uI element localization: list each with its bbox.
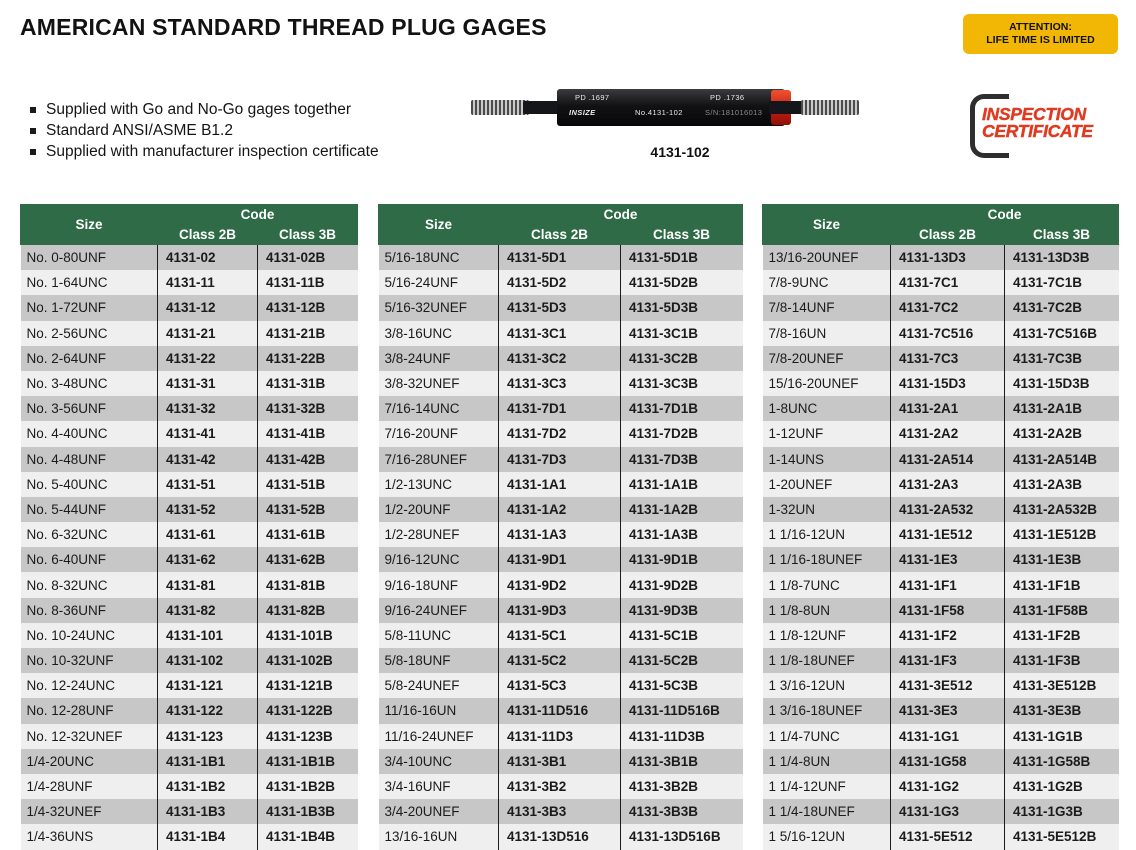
header-class-2b: Class 2B	[891, 225, 1005, 245]
cell-class-2b: 4131-1B3	[158, 799, 258, 824]
cell-size: 7/8-9UNC	[763, 270, 891, 295]
table-row: 1-8UNC4131-2A14131-2A1B	[763, 396, 1119, 421]
gage-pd-go-label: PD .1697	[575, 93, 609, 102]
table-row: 1 1/4-8UN4131-1G584131-1G58B	[763, 749, 1119, 774]
table-row: 3/4-16UNF4131-3B24131-3B2B	[379, 774, 743, 799]
cell-size: 1 3/16-12UN	[763, 673, 891, 698]
table-row: No. 12-24UNC4131-1214131-121B	[21, 673, 358, 698]
cell-class-3b: 4131-61B	[258, 522, 358, 547]
cell-class-2b: 4131-2A532	[891, 497, 1005, 522]
cell-size: No. 10-24UNC	[21, 623, 158, 648]
table-row: No. 6-32UNC4131-614131-61B	[21, 522, 358, 547]
cell-size: 1 1/8-8UN	[763, 598, 891, 623]
cell-class-2b: 4131-1A1	[499, 472, 621, 497]
table-row: No. 5-44UNF4131-524131-52B	[21, 497, 358, 522]
cell-size: 1/4-28UNF	[21, 774, 158, 799]
cell-size: No. 6-40UNF	[21, 547, 158, 572]
table-row: 1 1/8-12UNF4131-1F24131-1F2B	[763, 623, 1119, 648]
header-size: Size	[379, 205, 499, 245]
cell-size: 1-14UNS	[763, 447, 891, 472]
cell-class-3b: 4131-1B2B	[258, 774, 358, 799]
cell-class-2b: 4131-9D3	[499, 598, 621, 623]
cell-class-3b: 4131-1E3B	[1005, 547, 1119, 572]
table-row: 3/4-10UNC4131-3B14131-3B1B	[379, 749, 743, 774]
cell-class-2b: 4131-1A2	[499, 497, 621, 522]
cell-class-2b: 4131-1E512	[891, 522, 1005, 547]
cell-size: No. 1-72UNF	[21, 295, 158, 320]
table-row: No. 2-64UNF4131-224131-22B	[21, 346, 358, 371]
cell-size: 1 1/4-7UNC	[763, 724, 891, 749]
cell-size: 1 1/16-18UNEF	[763, 547, 891, 572]
cell-class-2b: 4131-62	[158, 547, 258, 572]
cell-class-3b: 4131-32B	[258, 396, 358, 421]
table-row: 1-12UNF4131-2A24131-2A2B	[763, 421, 1119, 446]
cell-class-2b: 4131-3C2	[499, 346, 621, 371]
cell-class-2b: 4131-52	[158, 497, 258, 522]
cell-size: 1/4-20UNC	[21, 749, 158, 774]
attention-badge: ATTENTION: LIFE TIME IS LIMITED	[963, 14, 1118, 54]
cell-class-2b: 4131-1B1	[158, 749, 258, 774]
gage-model-label: No.4131-102	[635, 108, 683, 117]
cell-size: 1-32UN	[763, 497, 891, 522]
table-row: No. 12-32UNEF4131-1234131-123B	[21, 724, 358, 749]
cell-class-2b: 4131-21	[158, 321, 258, 346]
gage-pd-nogo-label: PD .1736	[710, 93, 744, 102]
cell-class-3b: 4131-1F2B	[1005, 623, 1119, 648]
table-row: No. 1-72UNF4131-124131-12B	[21, 295, 358, 320]
cell-class-2b: 4131-7D3	[499, 447, 621, 472]
table-row: 1 1/16-18UNEF4131-1E34131-1E3B	[763, 547, 1119, 572]
cell-class-2b: 4131-22	[158, 346, 258, 371]
cell-class-2b: 4131-11	[158, 270, 258, 295]
cell-class-3b: 4131-121B	[258, 673, 358, 698]
cell-class-3b: 4131-51B	[258, 472, 358, 497]
cell-size: 7/16-28UNEF	[379, 447, 499, 472]
cell-size: 1/4-32UNEF	[21, 799, 158, 824]
cell-class-3b: 4131-3C2B	[621, 346, 743, 371]
cell-size: 3/8-32UNEF	[379, 371, 499, 396]
cell-size: 3/8-24UNF	[379, 346, 499, 371]
table-row: 7/16-14UNC4131-7D14131-7D1B	[379, 396, 743, 421]
cell-class-3b: 4131-15D3B	[1005, 371, 1119, 396]
cell-size: 1 1/4-8UN	[763, 749, 891, 774]
cell-class-3b: 4131-3B1B	[621, 749, 743, 774]
cell-class-2b: 4131-2A1	[891, 396, 1005, 421]
cell-class-2b: 4131-2A2	[891, 421, 1005, 446]
table-row: 1 3/16-18UNEF4131-3E34131-3E3B	[763, 698, 1119, 723]
product-caption: 4131-102	[465, 144, 895, 160]
table-row: No. 6-40UNF4131-624131-62B	[21, 547, 358, 572]
cell-class-3b: 4131-62B	[258, 547, 358, 572]
cell-class-2b: 4131-1G2	[891, 774, 1005, 799]
table-row: No. 8-36UNF4131-824131-82B	[21, 598, 358, 623]
table-row: 11/16-16UN4131-11D5164131-11D516B	[379, 698, 743, 723]
cell-size: 7/16-14UNC	[379, 396, 499, 421]
cell-class-3b: 4131-1G58B	[1005, 749, 1119, 774]
table-row: 9/16-12UNC4131-9D14131-9D1B	[379, 547, 743, 572]
cell-class-2b: 4131-7D2	[499, 421, 621, 446]
cell-size: 7/16-20UNF	[379, 421, 499, 446]
cell-class-2b: 4131-123	[158, 724, 258, 749]
table-row: No. 0-80UNF4131-024131-02B	[21, 245, 358, 271]
cell-class-2b: 4131-1F2	[891, 623, 1005, 648]
cell-size: No. 5-44UNF	[21, 497, 158, 522]
cell-size: 3/8-16UNC	[379, 321, 499, 346]
table-row: No. 8-32UNC4131-814131-81B	[21, 572, 358, 597]
cell-class-3b: 4131-81B	[258, 572, 358, 597]
cell-size: 1-20UNEF	[763, 472, 891, 497]
cell-class-3b: 4131-1A1B	[621, 472, 743, 497]
cell-size: 1-8UNC	[763, 396, 891, 421]
cell-class-2b: 4131-82	[158, 598, 258, 623]
table-row: No. 4-40UNC4131-414131-41B	[21, 421, 358, 446]
cell-class-2b: 4131-11D516	[499, 698, 621, 723]
header-class-2b: Class 2B	[158, 225, 258, 245]
cell-size: 7/8-20UNEF	[763, 346, 891, 371]
cell-class-2b: 4131-41	[158, 421, 258, 446]
cell-size: 9/16-12UNC	[379, 547, 499, 572]
table-row: 5/16-18UNC4131-5D14131-5D1B	[379, 245, 743, 271]
cell-class-3b: 4131-22B	[258, 346, 358, 371]
cell-size: 5/16-32UNEF	[379, 295, 499, 320]
cell-class-3b: 4131-7D3B	[621, 447, 743, 472]
cell-class-2b: 4131-42	[158, 447, 258, 472]
certificate-line2: CERTIFICATE	[982, 123, 1093, 140]
cell-class-3b: 4131-1G1B	[1005, 724, 1119, 749]
cell-class-2b: 4131-9D1	[499, 547, 621, 572]
table-row: 7/8-20UNEF4131-7C34131-7C3B	[763, 346, 1119, 371]
cell-class-2b: 4131-1F3	[891, 648, 1005, 673]
cell-class-2b: 4131-3C1	[499, 321, 621, 346]
go-thread-icon	[471, 100, 529, 115]
cell-size: 5/8-11UNC	[379, 623, 499, 648]
cell-class-2b: 4131-32	[158, 396, 258, 421]
cell-class-3b: 4131-1A2B	[621, 497, 743, 522]
table-row: 1/4-20UNC4131-1B14131-1B1B	[21, 749, 358, 774]
cell-size: No. 6-32UNC	[21, 522, 158, 547]
table-row: 5/16-32UNEF4131-5D34131-5D3B	[379, 295, 743, 320]
table-row: 1/2-20UNF4131-1A24131-1A2B	[379, 497, 743, 522]
table-row: 7/16-28UNEF4131-7D34131-7D3B	[379, 447, 743, 472]
table-row: 1-32UN4131-2A5324131-2A532B	[763, 497, 1119, 522]
table-row: 1 3/16-12UN4131-3E5124131-3E512B	[763, 673, 1119, 698]
cell-class-3b: 4131-52B	[258, 497, 358, 522]
table-row: 3/8-16UNC4131-3C14131-3C1B	[379, 321, 743, 346]
certificate-text: INSPECTION CERTIFICATE	[982, 106, 1093, 140]
gage-brand-label: INSIZE	[569, 108, 596, 117]
table-row: 1/4-32UNEF4131-1B34131-1B3B	[21, 799, 358, 824]
cell-class-2b: 4131-122	[158, 698, 258, 723]
table-body: 13/16-20UNEF4131-13D34131-13D3B7/8-9UNC4…	[763, 245, 1119, 850]
cell-size: No. 12-28UNF	[21, 698, 158, 723]
cell-class-2b: 4131-1F58	[891, 598, 1005, 623]
cell-size: 1 1/4-18UNEF	[763, 799, 891, 824]
cell-class-2b: 4131-3E3	[891, 698, 1005, 723]
cell-class-3b: 4131-11D3B	[621, 724, 743, 749]
cell-size: No. 8-36UNF	[21, 598, 158, 623]
cell-class-3b: 4131-3B2B	[621, 774, 743, 799]
cell-class-2b: 4131-2A3	[891, 472, 1005, 497]
cell-class-3b: 4131-2A2B	[1005, 421, 1119, 446]
cell-class-3b: 4131-11D516B	[621, 698, 743, 723]
cell-class-2b: 4131-3B3	[499, 799, 621, 824]
cell-class-2b: 4131-7C516	[891, 321, 1005, 346]
cell-class-3b: 4131-7D2B	[621, 421, 743, 446]
table-row: No. 1-64UNC4131-114131-11B	[21, 270, 358, 295]
cell-size: 15/16-20UNEF	[763, 371, 891, 396]
cell-size: 5/16-18UNC	[379, 245, 499, 271]
cell-class-3b: 4131-41B	[258, 421, 358, 446]
cell-class-2b: 4131-9D2	[499, 572, 621, 597]
attention-badge-line2: LIFE TIME IS LIMITED	[986, 34, 1095, 47]
cell-class-3b: 4131-1F1B	[1005, 572, 1119, 597]
table-row: No. 3-48UNC4131-314131-31B	[21, 371, 358, 396]
cell-class-2b: 4131-1F1	[891, 572, 1005, 597]
cell-class-3b: 4131-2A532B	[1005, 497, 1119, 522]
cell-class-2b: 4131-2A514	[891, 447, 1005, 472]
cell-class-3b: 4131-2A1B	[1005, 396, 1119, 421]
table-row: 15/16-20UNEF4131-15D34131-15D3B	[763, 371, 1119, 396]
table-row: 1 1/8-7UNC4131-1F14131-1F1B	[763, 572, 1119, 597]
cell-size: No. 3-56UNF	[21, 396, 158, 421]
cell-class-3b: 4131-7D1B	[621, 396, 743, 421]
cell-size: 1 1/4-12UNF	[763, 774, 891, 799]
cell-class-2b: 4131-61	[158, 522, 258, 547]
header-size: Size	[21, 205, 158, 245]
cell-size: 7/8-14UNF	[763, 295, 891, 320]
table-row: 5/8-24UNEF4131-5C34131-5C3B	[379, 673, 743, 698]
cell-size: 13/16-20UNEF	[763, 245, 891, 271]
cell-class-3b: 4131-21B	[258, 321, 358, 346]
cell-class-2b: 4131-7C3	[891, 346, 1005, 371]
cell-class-3b: 4131-101B	[258, 623, 358, 648]
cell-size: No. 2-56UNC	[21, 321, 158, 346]
table-row: 13/16-20UNEF4131-13D34131-13D3B	[763, 245, 1119, 271]
cell-class-2b: 4131-5D1	[499, 245, 621, 271]
cell-size: 11/16-24UNEF	[379, 724, 499, 749]
table-row: 7/8-14UNF4131-7C24131-7C2B	[763, 295, 1119, 320]
cell-class-2b: 4131-5C2	[499, 648, 621, 673]
cell-class-3b: 4131-31B	[258, 371, 358, 396]
feature-item: Supplied with manufacturer inspection ce…	[30, 142, 379, 162]
cell-class-2b: 4131-102	[158, 648, 258, 673]
feature-item: Standard ANSI/ASME B1.2	[30, 121, 379, 141]
table-row: No. 10-24UNC4131-1014131-101B	[21, 623, 358, 648]
cell-class-3b: 4131-12B	[258, 295, 358, 320]
cell-class-2b: 4131-3B2	[499, 774, 621, 799]
cell-class-2b: 4131-13D3	[891, 245, 1005, 271]
table-row: No. 5-40UNC4131-514131-51B	[21, 472, 358, 497]
cell-class-3b: 4131-9D2B	[621, 572, 743, 597]
table-row: 7/8-9UNC4131-7C14131-7C1B	[763, 270, 1119, 295]
table-row: 9/16-24UNEF4131-9D34131-9D3B	[379, 598, 743, 623]
table-row: 1 1/8-18UNEF4131-1F34131-1F3B	[763, 648, 1119, 673]
cell-size: No. 2-64UNF	[21, 346, 158, 371]
cell-class-3b: 4131-5C2B	[621, 648, 743, 673]
table-row: 3/4-20UNEF4131-3B34131-3B3B	[379, 799, 743, 824]
cell-class-3b: 4131-2A514B	[1005, 447, 1119, 472]
cell-size: 1 1/8-12UNF	[763, 623, 891, 648]
cell-class-3b: 4131-9D3B	[621, 598, 743, 623]
cell-size: No. 8-32UNC	[21, 572, 158, 597]
cell-class-3b: 4131-5D2B	[621, 270, 743, 295]
header-class-3b: Class 3B	[258, 225, 358, 245]
cell-class-2b: 4131-1G1	[891, 724, 1005, 749]
cell-class-3b: 4131-7C1B	[1005, 270, 1119, 295]
feature-list: Supplied with Go and No-Go gages togethe…	[30, 100, 379, 163]
cell-class-3b: 4131-7C3B	[1005, 346, 1119, 371]
table-row: No. 3-56UNF4131-324131-32B	[21, 396, 358, 421]
cell-class-3b: 4131-1B1B	[258, 749, 358, 774]
cell-class-3b: 4131-3C3B	[621, 371, 743, 396]
cell-class-2b: 4131-5D3	[499, 295, 621, 320]
cell-class-3b: 4131-102B	[258, 648, 358, 673]
cell-class-2b: 4131-81	[158, 572, 258, 597]
table-row: 5/16-24UNF4131-5D24131-5D2B	[379, 270, 743, 295]
cell-class-3b: 4131-122B	[258, 698, 358, 723]
cell-class-2b: 4131-5D2	[499, 270, 621, 295]
product-figure: PD .1697 PD .1736 INSIZE No.4131-102 S/N…	[465, 72, 895, 162]
cell-class-3b: 4131-3E512B	[1005, 673, 1119, 698]
cell-class-2b: 4131-1A3	[499, 522, 621, 547]
table-row: 1/2-28UNEF4131-1A34131-1A3B	[379, 522, 743, 547]
cell-class-2b: 4131-15D3	[891, 371, 1005, 396]
cell-size: 1/2-28UNEF	[379, 522, 499, 547]
table-row: 5/8-18UNF4131-5C24131-5C2B	[379, 648, 743, 673]
cell-class-3b: 4131-82B	[258, 598, 358, 623]
cell-size: No. 1-64UNC	[21, 270, 158, 295]
cell-size: 9/16-18UNF	[379, 572, 499, 597]
table-row: 1-20UNEF4131-2A34131-2A3B	[763, 472, 1119, 497]
cell-size: 3/4-20UNEF	[379, 799, 499, 824]
header-code: Code	[158, 205, 358, 225]
cell-class-3b: 4131-1F58B	[1005, 598, 1119, 623]
thread-plug-gage-image: PD .1697 PD .1736 INSIZE No.4131-102 S/N…	[465, 84, 865, 130]
table-row: 1/4-28UNF4131-1B24131-1B2B	[21, 774, 358, 799]
header-class-3b: Class 3B	[621, 225, 743, 245]
table-row: 1/2-13UNC4131-1A14131-1A1B	[379, 472, 743, 497]
cell-size: No. 12-32UNEF	[21, 724, 158, 749]
cell-class-2b: 4131-1B2	[158, 774, 258, 799]
cell-class-2b: 4131-3C3	[499, 371, 621, 396]
cell-size: 1/2-13UNC	[379, 472, 499, 497]
cell-size: 1 3/16-18UNEF	[763, 698, 891, 723]
table-row: 1-14UNS4131-2A5144131-2A514B	[763, 447, 1119, 472]
cell-size: 3/4-16UNF	[379, 774, 499, 799]
cell-class-2b: 4131-101	[158, 623, 258, 648]
table-row: 7/16-20UNF4131-7D24131-7D2B	[379, 421, 743, 446]
cell-size: 1 1/8-7UNC	[763, 572, 891, 597]
cell-class-3b: 4131-1B3B	[258, 799, 358, 824]
table-row: 3/8-24UNF4131-3C24131-3C2B	[379, 346, 743, 371]
cell-size: No. 4-48UNF	[21, 447, 158, 472]
inspection-certificate-logo: INSPECTION CERTIFICATE	[952, 92, 1122, 154]
cell-size: No. 3-48UNC	[21, 371, 158, 396]
table-row: 11/16-24UNEF4131-11D34131-11D3B	[379, 724, 743, 749]
cell-class-2b: 4131-11D3	[499, 724, 621, 749]
cell-class-2b: 4131-7D1	[499, 396, 621, 421]
gage-code-table: Size Code Class 2B Class 3B No. 0-80UNF4…	[20, 204, 358, 850]
table-row: No. 2-56UNC4131-214131-21B	[21, 321, 358, 346]
table-row: No. 12-28UNF4131-1224131-122B	[21, 698, 358, 723]
table-body: No. 0-80UNF4131-024131-02BNo. 1-64UNC413…	[21, 245, 358, 850]
cell-size: No. 12-24UNC	[21, 673, 158, 698]
cell-class-2b: 4131-121	[158, 673, 258, 698]
cell-class-2b: 4131-3E512	[891, 673, 1005, 698]
cell-class-3b: 4131-3C1B	[621, 321, 743, 346]
cell-class-3b: 4131-9D1B	[621, 547, 743, 572]
cell-size: 5/8-24UNEF	[379, 673, 499, 698]
cell-class-3b: 4131-1A3B	[621, 522, 743, 547]
cell-class-3b: 4131-7C2B	[1005, 295, 1119, 320]
cell-class-3b: 4131-1F3B	[1005, 648, 1119, 673]
table-row: 1 1/16-12UN4131-1E5124131-1E512B	[763, 522, 1119, 547]
table-row: No. 10-32UNF4131-1024131-102B	[21, 648, 358, 673]
page-title: AMERICAN STANDARD THREAD PLUG GAGES	[20, 14, 547, 41]
cell-class-2b: 4131-5C3	[499, 673, 621, 698]
cell-class-3b: 4131-3B3B	[621, 799, 743, 824]
cell-size: 5/8-18UNF	[379, 648, 499, 673]
header-code: Code	[891, 205, 1119, 225]
header-size: Size	[763, 205, 891, 245]
cell-class-3b: 4131-11B	[258, 270, 358, 295]
cell-class-2b: 4131-1G58	[891, 749, 1005, 774]
cell-size: 5/16-24UNF	[379, 270, 499, 295]
gage-serial-label: S/N:181016013	[705, 108, 762, 117]
header-class-3b: Class 3B	[1005, 225, 1119, 245]
cell-size: 1 1/8-18UNEF	[763, 648, 891, 673]
table-row: 3/8-32UNEF4131-3C34131-3C3B	[379, 371, 743, 396]
gage-code-table: Size Code Class 2B Class 3B 13/16-20UNEF…	[762, 204, 1119, 850]
cell-size: No. 10-32UNF	[21, 648, 158, 673]
cell-class-3b: 4131-1G3B	[1005, 799, 1119, 824]
cell-class-3b: 4131-5C3B	[621, 673, 743, 698]
cell-class-2b: 4131-7C1	[891, 270, 1005, 295]
cell-size: 1 1/16-12UN	[763, 522, 891, 547]
cell-class-2b: 4131-5C1	[499, 623, 621, 648]
feature-item: Supplied with Go and No-Go gages togethe…	[30, 100, 379, 120]
cell-size: 3/4-10UNC	[379, 749, 499, 774]
cell-class-3b: 4131-42B	[258, 447, 358, 472]
table-body: 5/16-18UNC4131-5D14131-5D1B5/16-24UNF413…	[379, 245, 743, 850]
cell-size: 1/2-20UNF	[379, 497, 499, 522]
cell-class-3b: 4131-3E3B	[1005, 698, 1119, 723]
table-row: 1 1/4-18UNEF4131-1G34131-1G3B	[763, 799, 1119, 824]
cell-size: 1-12UNF	[763, 421, 891, 446]
attention-badge-line1: ATTENTION:	[1009, 21, 1072, 34]
cell-class-2b: 4131-1E3	[891, 547, 1005, 572]
cell-class-3b: 4131-1E512B	[1005, 522, 1119, 547]
table-row: No. 4-48UNF4131-424131-42B	[21, 447, 358, 472]
cell-class-3b: 4131-02B	[258, 245, 358, 271]
cell-class-2b: 4131-3B1	[499, 749, 621, 774]
table-row: 7/8-16UN4131-7C5164131-7C516B	[763, 321, 1119, 346]
cell-size: No. 0-80UNF	[21, 245, 158, 271]
gage-code-table: Size Code Class 2B Class 3B 5/16-18UNC41…	[378, 204, 743, 850]
cell-size: 7/8-16UN	[763, 321, 891, 346]
table-row: 1 1/4-7UNC4131-1G14131-1G1B	[763, 724, 1119, 749]
cell-class-3b: 4131-1G2B	[1005, 774, 1119, 799]
table-row: 5/8-11UNC4131-5C14131-5C1B	[379, 623, 743, 648]
cell-size: 11/16-16UN	[379, 698, 499, 723]
header-code: Code	[499, 205, 743, 225]
cell-class-2b: 4131-7C2	[891, 295, 1005, 320]
cell-class-2b: 4131-31	[158, 371, 258, 396]
cell-class-2b: 4131-12	[158, 295, 258, 320]
cell-class-2b: 4131-02	[158, 245, 258, 271]
cell-class-3b: 4131-5D3B	[621, 295, 743, 320]
cell-class-3b: 4131-5D1B	[621, 245, 743, 271]
